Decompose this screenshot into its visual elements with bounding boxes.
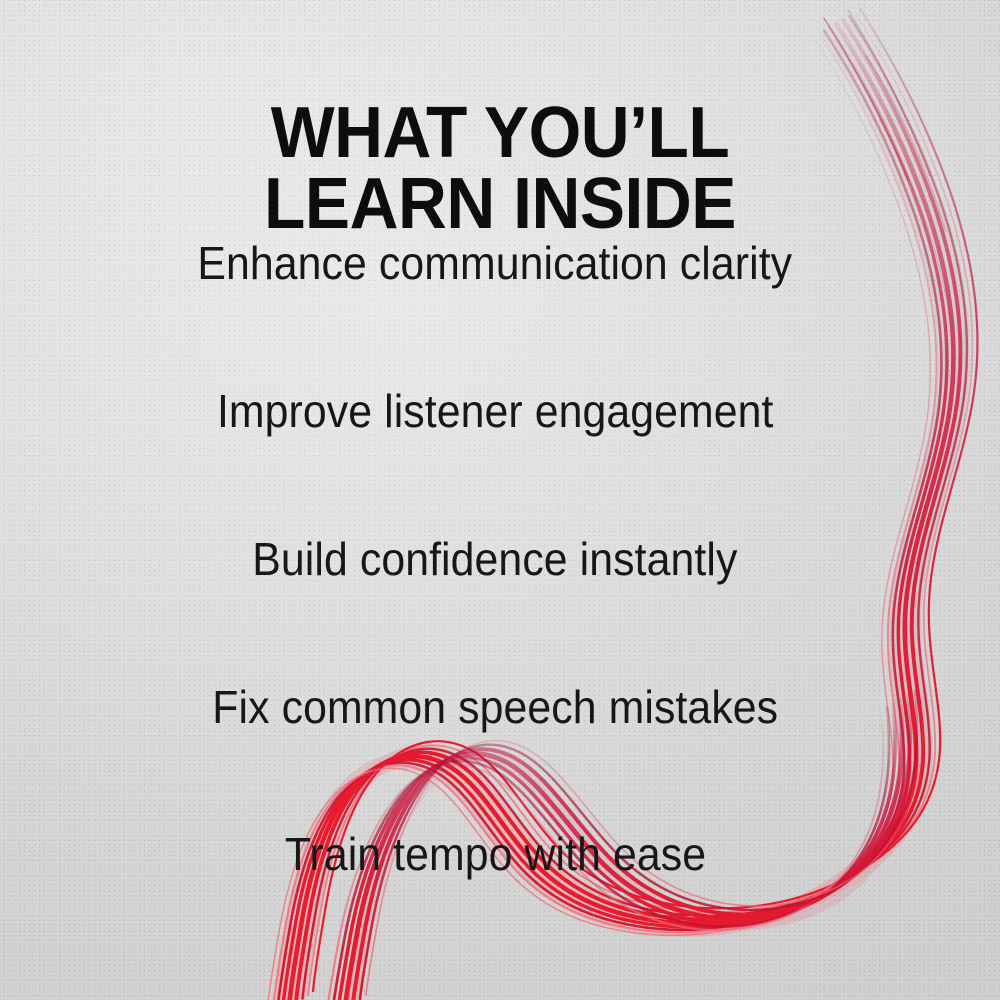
- list-item: Fix common speech mistakes: [212, 682, 778, 733]
- poster-content: WHAT YOU’LL LEARN INSIDE Enhance communi…: [0, 0, 1000, 1000]
- list-item: Build confidence instantly: [252, 534, 737, 585]
- page-title-line-1: WHAT YOU’LL: [271, 93, 730, 173]
- list-item: Train tempo with ease: [284, 829, 705, 880]
- list-item: Improve listener engagement: [217, 386, 774, 437]
- page-title: WHAT YOU’LL LEARN INSIDE: [30, 98, 970, 239]
- page-title-line-2: LEARN INSIDE: [86, 169, 913, 240]
- poster-canvas: WHAT YOU’LL LEARN INSIDE Enhance communi…: [0, 0, 1000, 1000]
- list-item: Enhance communication clarity: [198, 238, 793, 289]
- benefits-list: Enhance communication clarity Improve li…: [0, 238, 1000, 880]
